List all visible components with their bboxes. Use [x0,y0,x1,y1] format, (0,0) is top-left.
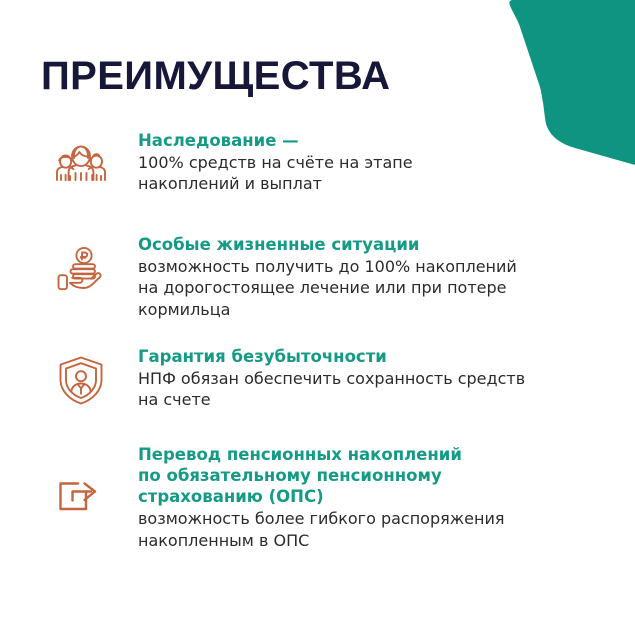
page-title: ПРЕИМУЩЕСТВА [41,54,390,98]
hand-holding-ruble-coins-icon [50,242,112,304]
benefit-text: возможность более гибкого распоряжения н… [138,508,538,551]
benefit-title: Гарантия безубыточности [138,346,538,367]
export-arrow-icon [50,464,112,526]
benefit-item: Наследование — 100% средств на счёте на … [0,128,635,196]
benefits-list: Наследование — 100% средств на счёте на … [0,128,635,579]
benefit-title: Наследование — [138,130,538,151]
shield-person-icon [50,350,112,412]
benefit-text: 100% средств на счёте на этапе накоплени… [138,152,538,195]
family-group-icon [50,134,112,196]
benefit-title: Перевод пенсионных накоплений по обязате… [138,444,538,507]
benefit-body: Гарантия безубыточности НПФ обязан обесп… [112,344,538,411]
benefit-body: Особые жизненные ситуации возможность по… [112,232,538,320]
benefit-title: Особые жизненные ситуации [138,234,538,255]
benefit-item: Перевод пенсионных накоплений по обязате… [0,442,635,551]
benefit-text: возможность получить до 100% накоплений … [138,256,538,320]
benefit-body: Перевод пенсионных накоплений по обязате… [112,442,538,551]
benefit-item: Гарантия безубыточности НПФ обязан обесп… [0,344,635,412]
benefit-item: Особые жизненные ситуации возможность по… [0,232,635,320]
benefit-text: НПФ обязан обеспечить сохранность средст… [138,368,538,411]
benefit-body: Наследование — 100% средств на счёте на … [112,128,538,195]
